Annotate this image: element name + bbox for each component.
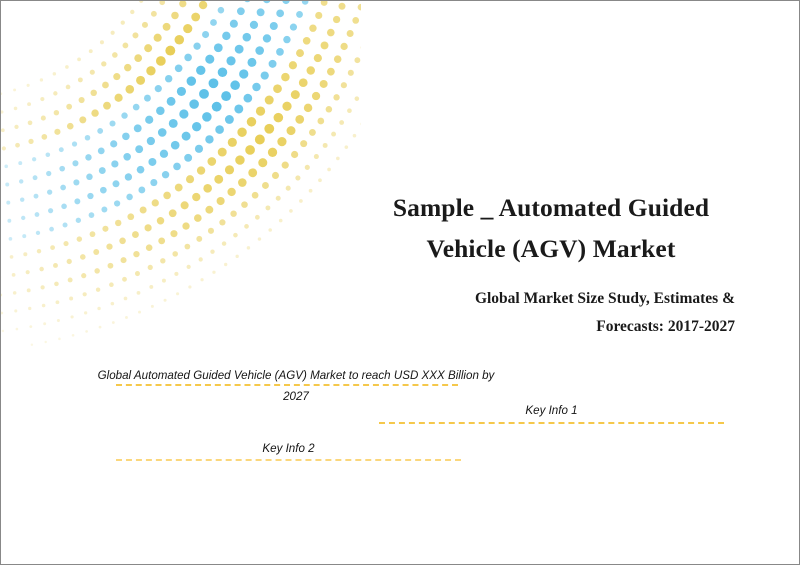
key-point-headline-rule-wrap bbox=[116, 384, 458, 386]
key-point-2-rule-wrap bbox=[116, 459, 461, 461]
page-title: Sample _ Automated Guided Vehicle (AGV) … bbox=[361, 187, 741, 269]
subtitle-line-1: Global Market Size Study, Estimates & bbox=[361, 285, 735, 313]
subtitle-line-2: Forecasts: 2017-2027 bbox=[361, 313, 735, 341]
dashed-rule bbox=[116, 459, 461, 461]
dashed-rule bbox=[116, 384, 458, 386]
key-point-1: Key Info 1 bbox=[379, 400, 724, 421]
key-point-2: Key Info 2 bbox=[116, 438, 461, 459]
key-point-1-text: Key Info 1 bbox=[379, 400, 724, 421]
page-subtitle: Global Market Size Study, Estimates & Fo… bbox=[361, 285, 741, 341]
key-point-2-text: Key Info 2 bbox=[116, 438, 461, 459]
dashed-rule bbox=[379, 422, 724, 424]
report-cover-page: Sample _ Automated Guided Vehicle (AGV) … bbox=[0, 0, 800, 565]
halftone-swoosh-decoration bbox=[1, 1, 361, 346]
title-line-1: Sample _ Automated Guided bbox=[361, 187, 741, 228]
title-line-2: Vehicle (AGV) Market bbox=[361, 228, 741, 269]
key-point-1-rule-wrap bbox=[379, 422, 724, 424]
